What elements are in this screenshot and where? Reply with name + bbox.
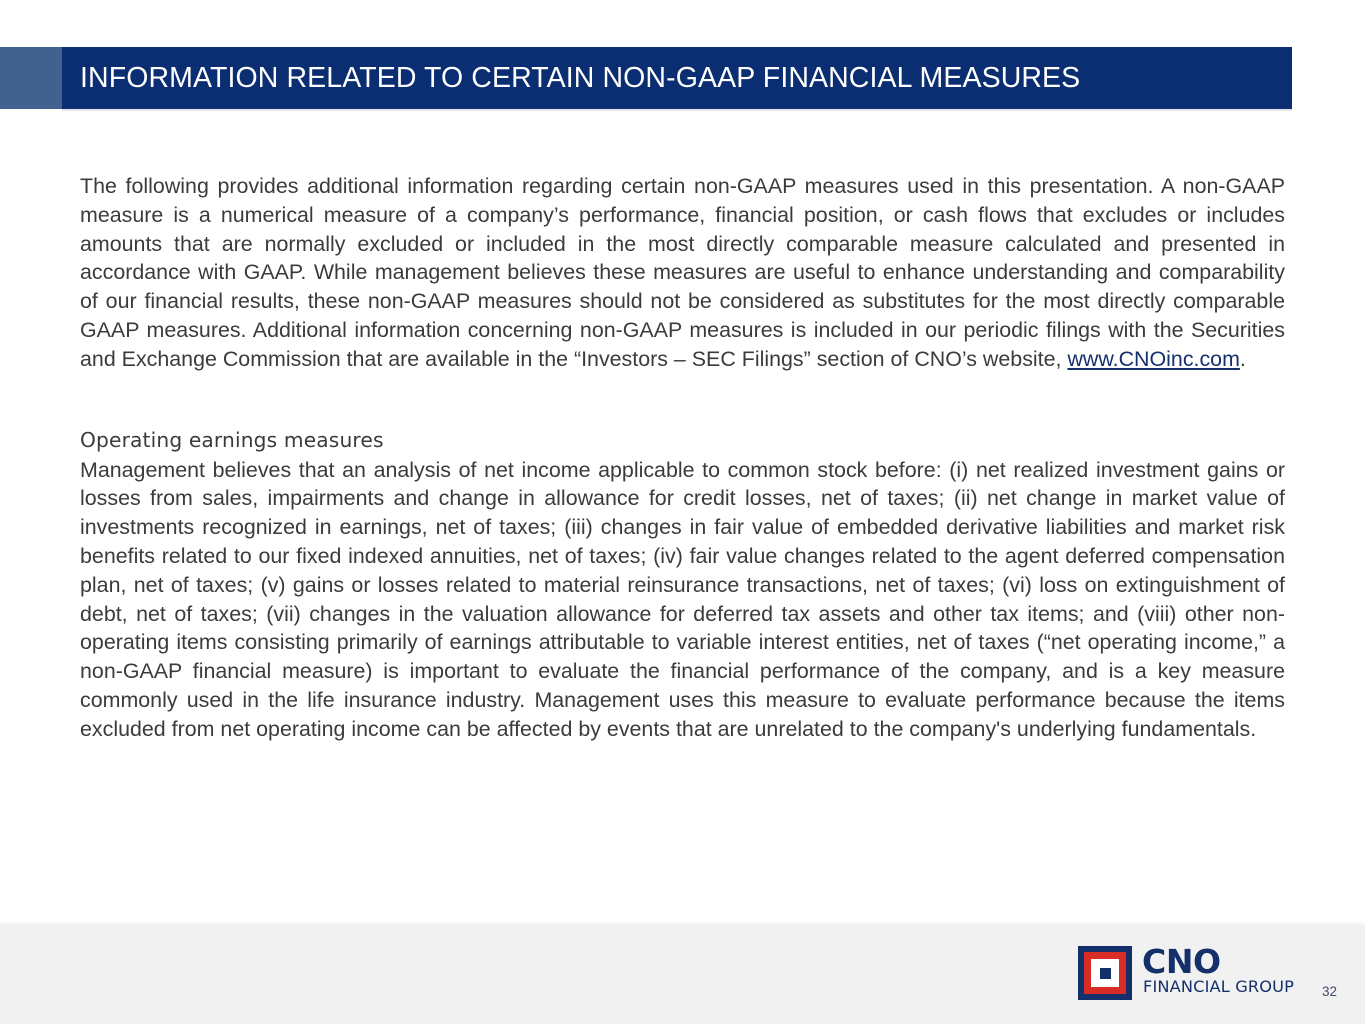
cno-logo-mark-center-square (1100, 968, 1111, 979)
header-band-shadow (62, 109, 1292, 111)
cno-logo-mark-icon (1078, 946, 1132, 1000)
slide-content: The following provides additional inform… (80, 172, 1285, 744)
cno-website-link[interactable]: www.CNOinc.com (1067, 347, 1239, 371)
cno-financial-group-logo: CNO FINANCIAL GROUP (1078, 946, 1293, 1004)
operating-earnings-measures-paragraph: Management believes that an analysis of … (80, 456, 1285, 744)
cno-logo-mark-red-band (1084, 952, 1126, 994)
page-title: INFORMATION RELATED TO CERTAIN NON-GAAP … (80, 47, 1080, 109)
cno-logo-mark-white-band (1091, 959, 1119, 987)
intro-paragraph-text-before-link: The following provides additional inform… (80, 174, 1285, 371)
slide: INFORMATION RELATED TO CERTAIN NON-GAAP … (0, 0, 1365, 1024)
slide-header: INFORMATION RELATED TO CERTAIN NON-GAAP … (0, 47, 1365, 109)
header-accent-block (0, 47, 62, 109)
cno-logo-tagline: FINANCIAL GROUP (1143, 978, 1294, 996)
cno-logo-name: CNO (1142, 945, 1221, 979)
intro-paragraph: The following provides additional inform… (80, 172, 1285, 374)
footer-top-hairline (0, 922, 1365, 925)
page-number: 32 (1322, 984, 1352, 1000)
cno-logo-wordmark: CNO FINANCIAL GROUP (1142, 946, 1292, 1000)
intro-paragraph-text-after-link: . (1240, 347, 1246, 371)
section-heading-operating-earnings-measures: Operating earnings measures (80, 426, 1285, 455)
paragraph-spacer (80, 374, 1285, 426)
